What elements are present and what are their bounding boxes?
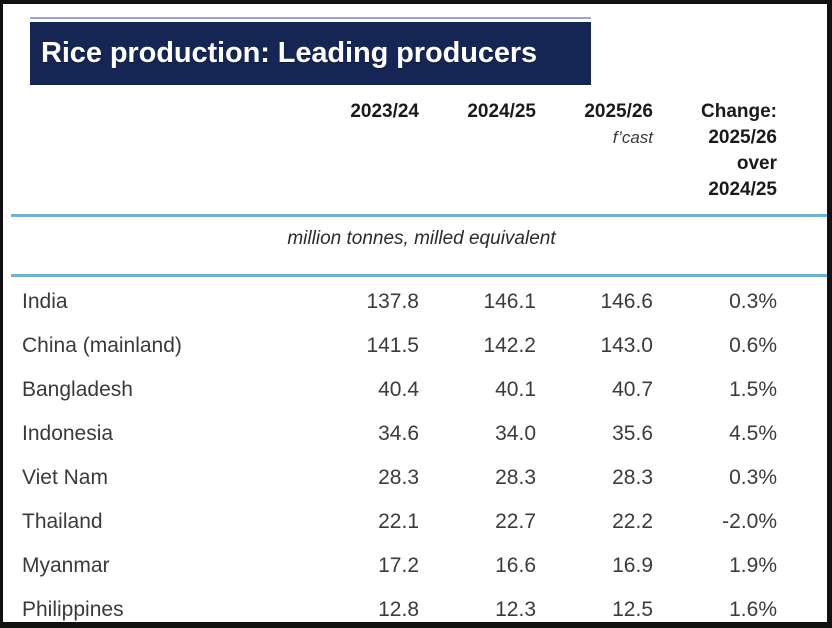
header-change-line2: 2025/26 <box>659 125 777 151</box>
table-row: Viet Nam28.328.328.30.3% <box>17 456 800 500</box>
cell-2023-24: 141.5 <box>308 334 425 358</box>
table-row: Myanmar17.216.616.91.9% <box>17 544 800 588</box>
cell-2023-24: 40.4 <box>308 378 425 402</box>
title-banner: Rice production: Leading producers <box>30 22 591 85</box>
header-2025-26-forecast-note: f’cast <box>542 125 653 151</box>
cell-country: India <box>17 290 308 314</box>
units-caption: million tonnes, milled equivalent <box>261 228 555 250</box>
cell-2023-24: 137.8 <box>308 290 425 314</box>
divider-below-units <box>11 274 827 277</box>
cell-2025-26: 143.0 <box>542 334 659 358</box>
cell-2024-25: 12.3 <box>425 598 542 622</box>
cell-2025-26: 40.7 <box>542 378 659 402</box>
cell-2024-25: 142.2 <box>425 334 542 358</box>
table-row: Indonesia34.634.035.64.5% <box>17 412 800 456</box>
page-title: Rice production: Leading producers <box>30 37 537 70</box>
table-row: Philippines12.812.312.51.6% <box>17 588 800 628</box>
cell-change: 4.5% <box>659 422 783 446</box>
cell-2025-26: 12.5 <box>542 598 659 622</box>
cell-2023-24: 22.1 <box>308 510 425 534</box>
cell-country: Bangladesh <box>17 378 308 402</box>
header-change-line4: 2024/25 <box>659 177 777 203</box>
title-top-hairline <box>30 17 591 19</box>
cell-change: 1.5% <box>659 378 783 402</box>
cell-2024-25: 34.0 <box>425 422 542 446</box>
table-row: China (mainland)141.5142.2143.00.6% <box>17 324 800 368</box>
cell-2025-26: 16.9 <box>542 554 659 578</box>
cell-change: 1.6% <box>659 598 783 622</box>
header-change-line1: Change: <box>659 99 777 125</box>
cell-2025-26: 28.3 <box>542 466 659 490</box>
table-header-row: 2023/24 2024/25 2025/26 f’cast Change: 2… <box>17 99 800 213</box>
cell-2025-26: 146.6 <box>542 290 659 314</box>
cell-change: -2.0% <box>659 510 783 534</box>
header-2024-25: 2024/25 <box>425 99 542 125</box>
cell-2024-25: 28.3 <box>425 466 542 490</box>
cell-change: 0.6% <box>659 334 783 358</box>
header-2025-26: 2025/26 f’cast <box>542 99 659 151</box>
cell-country: China (mainland) <box>17 334 308 358</box>
cell-country: Thailand <box>17 510 308 534</box>
header-change: Change: 2025/26 over 2024/25 <box>659 99 783 203</box>
cell-change: 0.3% <box>659 466 783 490</box>
units-caption-row: million tonnes, milled equivalent <box>17 228 800 270</box>
divider-above-units <box>11 214 827 217</box>
table-body: India137.8146.1146.60.3%China (mainland)… <box>17 280 800 628</box>
cell-2023-24: 28.3 <box>308 466 425 490</box>
cell-2024-25: 146.1 <box>425 290 542 314</box>
cell-2025-26: 35.6 <box>542 422 659 446</box>
cell-change: 0.3% <box>659 290 783 314</box>
cell-country: Viet Nam <box>17 466 308 490</box>
cell-2024-25: 16.6 <box>425 554 542 578</box>
cell-change: 1.9% <box>659 554 783 578</box>
cell-2024-25: 22.7 <box>425 510 542 534</box>
header-change-line3: over <box>659 151 777 177</box>
slide-frame: Rice production: Leading producers 2023/… <box>0 0 832 628</box>
header-2025-26-main: 2025/26 <box>542 99 653 125</box>
cell-2023-24: 17.2 <box>308 554 425 578</box>
table-panel: Rice production: Leading producers 2023/… <box>3 4 827 622</box>
cell-country: Myanmar <box>17 554 308 578</box>
cell-country: Philippines <box>17 598 308 622</box>
table-row: Thailand22.122.722.2-2.0% <box>17 500 800 544</box>
cell-2024-25: 40.1 <box>425 378 542 402</box>
header-2023-24: 2023/24 <box>308 99 425 125</box>
table-row: Bangladesh40.440.140.71.5% <box>17 368 800 412</box>
cell-country: Indonesia <box>17 422 308 446</box>
table-row: India137.8146.1146.60.3% <box>17 280 800 324</box>
cell-2025-26: 22.2 <box>542 510 659 534</box>
cell-2023-24: 12.8 <box>308 598 425 622</box>
cell-2023-24: 34.6 <box>308 422 425 446</box>
